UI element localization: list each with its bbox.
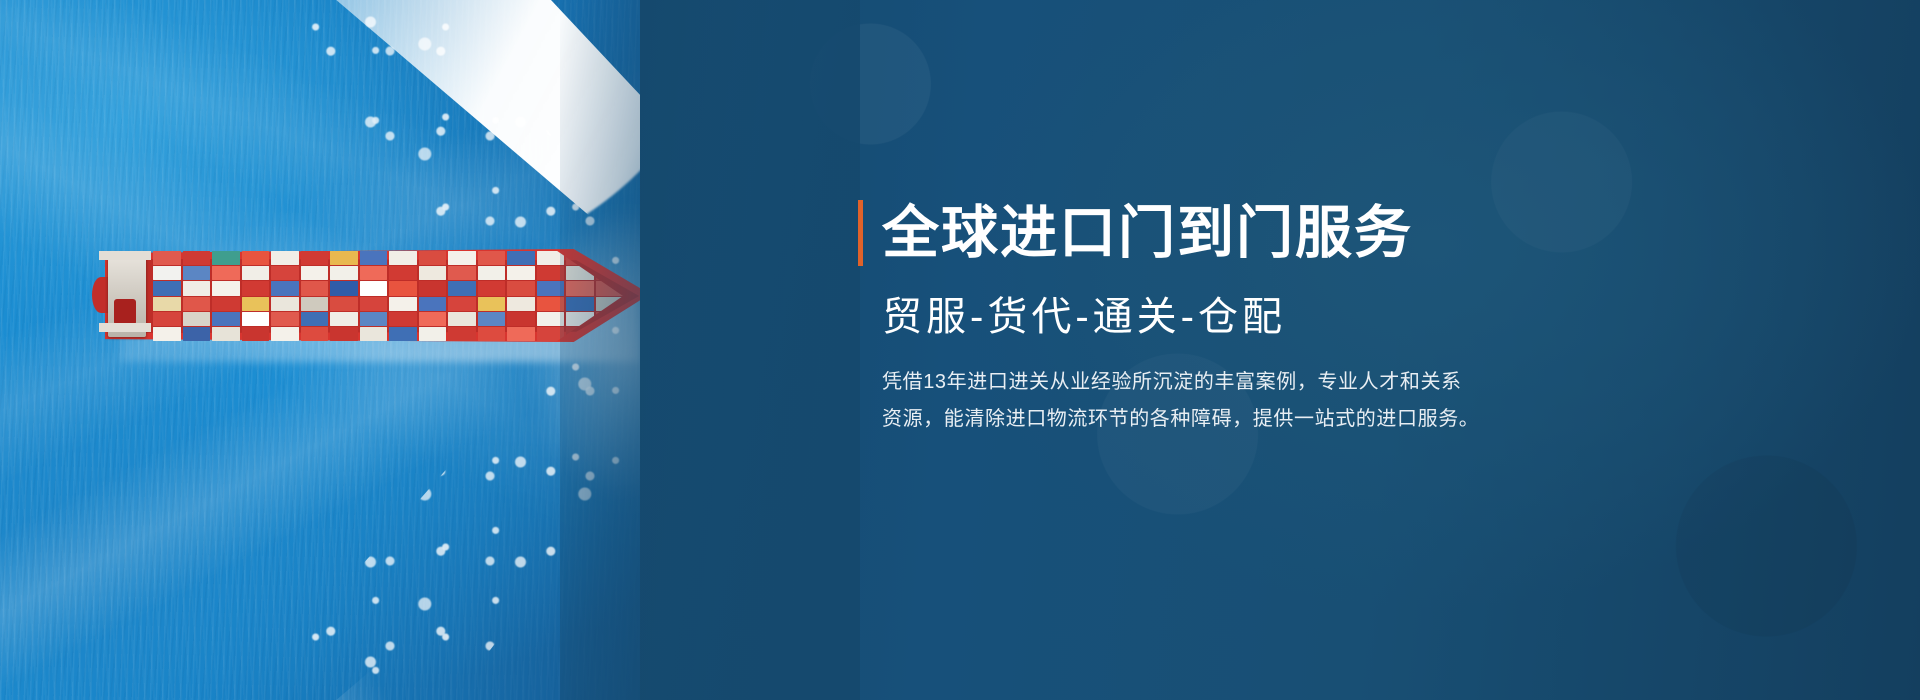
container-stack: [389, 251, 417, 341]
shipping-container: [153, 281, 181, 295]
shipping-container: [360, 251, 388, 265]
shipping-container: [330, 281, 358, 295]
shipping-container: [212, 297, 240, 311]
shipping-container: [478, 281, 506, 295]
shipping-container: [183, 266, 211, 280]
shipping-container: [478, 251, 506, 265]
shipping-container: [507, 251, 535, 265]
container-stack: [360, 251, 388, 341]
shipping-container: [301, 251, 329, 265]
hero-description: 凭借13年进口进关从业经验所沉淀的丰富案例，专业人才和关系 资源，能清除进口物流…: [858, 364, 1578, 438]
container-stack: [301, 251, 329, 341]
ship-funnel: [114, 299, 136, 325]
shipping-container: [360, 266, 388, 280]
shipping-container: [389, 327, 417, 341]
shipping-container: [183, 297, 211, 311]
shipping-container: [183, 312, 211, 326]
shipping-container: [419, 297, 447, 311]
shipping-container: [242, 312, 270, 326]
shipping-container: [212, 251, 240, 265]
shipping-container: [271, 251, 299, 265]
shipping-container: [389, 251, 417, 265]
shipping-container: [507, 297, 535, 311]
shipping-container: [448, 312, 476, 326]
shipping-container: [419, 312, 447, 326]
shipping-container: [153, 312, 181, 326]
shipping-container: [153, 327, 181, 341]
shipping-container: [419, 281, 447, 295]
container-stack: [419, 251, 447, 341]
shipping-container: [448, 266, 476, 280]
ship-bridge-wing-bottom: [99, 323, 151, 332]
shipping-container: [330, 251, 358, 265]
shipping-container: [507, 266, 535, 280]
shipping-container: [183, 251, 211, 265]
shipping-container: [419, 327, 447, 341]
hero-description-line-2: 资源，能清除进口物流环节的各种障碍，提供一站式的进口服务。: [882, 401, 1578, 438]
container-stack: [448, 251, 476, 341]
shipping-container: [478, 266, 506, 280]
container-stack: [183, 251, 211, 341]
shipping-container: [271, 281, 299, 295]
accent-bar: [858, 200, 863, 266]
container-stacks: [153, 251, 623, 341]
shipping-container: [330, 297, 358, 311]
container-stack: [212, 251, 240, 341]
shipping-container: [448, 297, 476, 311]
page-title: 全球进口门到门服务: [882, 200, 1413, 266]
shipping-container: [330, 327, 358, 341]
shipping-container: [389, 312, 417, 326]
shipping-container: [271, 266, 299, 280]
hero-description-line-1: 凭借13年进口进关从业经验所沉淀的丰富案例，专业人才和关系: [882, 364, 1578, 401]
shipping-container: [153, 266, 181, 280]
shipping-container: [360, 281, 388, 295]
shipping-container: [271, 312, 299, 326]
shipping-container: [242, 327, 270, 341]
shipping-container: [507, 312, 535, 326]
shipping-container: [389, 266, 417, 280]
container-stack: [330, 251, 358, 341]
container-stack: [507, 251, 535, 341]
shipping-container: [507, 327, 535, 341]
container-stack: [242, 251, 270, 341]
ship-bridge-wing-top: [99, 251, 151, 260]
shipping-container: [360, 312, 388, 326]
shipping-container: [478, 327, 506, 341]
shipping-container: [448, 327, 476, 341]
shipping-container: [183, 327, 211, 341]
container-stack: [153, 251, 181, 341]
shipping-container: [419, 251, 447, 265]
headline-row: 全球进口门到门服务: [858, 200, 1758, 266]
shipping-container: [242, 297, 270, 311]
shipping-container: [183, 281, 211, 295]
shipping-container: [419, 266, 447, 280]
shipping-container: [478, 312, 506, 326]
shipping-container: [153, 297, 181, 311]
shipping-container: [271, 327, 299, 341]
shipping-container: [301, 327, 329, 341]
photo-to-navy-blend: [560, 0, 860, 700]
shipping-container: [242, 266, 270, 280]
shipping-container: [330, 266, 358, 280]
shipping-container: [271, 297, 299, 311]
shipping-container: [478, 297, 506, 311]
shipping-container: [153, 251, 181, 265]
shipping-container: [212, 266, 240, 280]
shipping-container: [301, 266, 329, 280]
shipping-container: [301, 312, 329, 326]
shipping-container: [212, 327, 240, 341]
hero-copy-block: 全球进口门到门服务 贸服-货代-通关-仓配 凭借13年进口进关从业经验所沉淀的丰…: [858, 200, 1758, 438]
shipping-container: [212, 312, 240, 326]
shipping-container: [330, 312, 358, 326]
shipping-container: [389, 281, 417, 295]
shipping-container: [507, 281, 535, 295]
hero-banner: 全球进口门到门服务 贸服-货代-通关-仓配 凭借13年进口进关从业经验所沉淀的丰…: [0, 0, 1920, 700]
shipping-container: [301, 281, 329, 295]
shipping-container: [360, 297, 388, 311]
shipping-container: [448, 251, 476, 265]
shipping-container: [242, 281, 270, 295]
shipping-container: [448, 281, 476, 295]
hero-subtitle: 贸服-货代-通关-仓配: [858, 292, 1758, 342]
container-stack: [271, 251, 299, 341]
container-stack: [478, 251, 506, 341]
shipping-container: [389, 297, 417, 311]
shipping-container: [301, 297, 329, 311]
shipping-container: [212, 281, 240, 295]
shipping-container: [242, 251, 270, 265]
shipping-container: [360, 327, 388, 341]
